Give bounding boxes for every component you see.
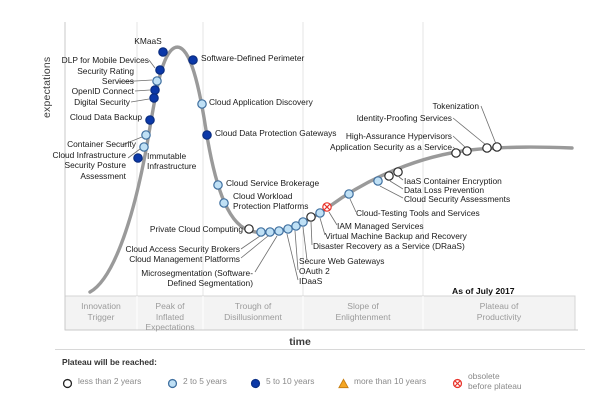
data-point-marker[interactable] bbox=[245, 225, 253, 233]
technology-label-line: Assessment bbox=[0, 171, 126, 181]
technology-label: Virtual Machine Backup and Recovery bbox=[325, 231, 467, 241]
data-point[interactable]: Microsegmentation (Software-Defined Segm… bbox=[275, 227, 283, 235]
technology-label: IAM Managed Services bbox=[337, 221, 424, 231]
data-point[interactable]: Identity-Proofing Services bbox=[483, 144, 491, 152]
data-point-marker[interactable] bbox=[159, 48, 167, 56]
data-point[interactable]: KMaaS bbox=[159, 48, 167, 56]
data-point-marker[interactable] bbox=[156, 66, 164, 74]
technology-label-line: Security Rating bbox=[0, 66, 134, 76]
technology-label-line: Cloud Workload bbox=[233, 191, 308, 201]
data-point-marker[interactable] bbox=[299, 218, 307, 226]
open-circle-icon bbox=[62, 378, 73, 389]
filled-circle-icon bbox=[167, 378, 178, 389]
data-point-marker[interactable] bbox=[385, 172, 393, 180]
legend-divider bbox=[55, 349, 585, 350]
data-point-marker[interactable] bbox=[189, 56, 197, 64]
label-leader-line bbox=[241, 236, 260, 249]
legend-item-label-line: before plateau bbox=[468, 382, 522, 392]
label-leader-line bbox=[380, 186, 403, 198]
phase-label-line: Disillusionment bbox=[203, 312, 303, 323]
data-point[interactable]: Security Rating Services bbox=[153, 77, 161, 85]
triangle-icon bbox=[338, 378, 349, 389]
data-point-marker[interactable] bbox=[151, 86, 159, 94]
technology-label-line: Infrastructure bbox=[147, 161, 196, 171]
data-point[interactable]: Cloud-Testing Tools and Services bbox=[345, 190, 353, 198]
technology-label: Cloud Service Brokerage bbox=[226, 178, 319, 188]
phase-label-line: Trough of bbox=[203, 301, 303, 312]
data-point[interactable]: Cloud Workload Protection Platforms bbox=[220, 199, 228, 207]
label-leader-line bbox=[453, 136, 466, 148]
technology-label: Tokenization bbox=[0, 101, 479, 111]
data-point[interactable]: Secure Web Gateways bbox=[299, 218, 307, 226]
label-leader-line bbox=[287, 234, 298, 280]
data-point-marker[interactable] bbox=[266, 228, 274, 236]
phase-label-line: Innovation bbox=[65, 301, 137, 312]
data-point[interactable]: Cloud Management Platforms bbox=[266, 228, 274, 236]
technology-label: Disaster Recovery as a Service (DRaaS) bbox=[313, 241, 465, 251]
technology-label: OpenID Connect bbox=[0, 86, 134, 96]
technology-label: Cloud Security Assessments bbox=[404, 194, 510, 204]
technology-label: Software-Defined Perimeter bbox=[201, 53, 304, 63]
data-point[interactable]: High-Assurance Hypervisors bbox=[463, 147, 471, 155]
phase-label-line: Plateau of bbox=[423, 301, 575, 312]
label-leader-line bbox=[149, 60, 155, 68]
data-point[interactable]: Cloud Access Security Brokers bbox=[257, 228, 265, 236]
phase-label-3: Slope ofEnlightenment bbox=[303, 301, 423, 322]
technology-label: KMaaS bbox=[118, 36, 178, 46]
data-point[interactable]: Cloud Security Assessments bbox=[374, 177, 382, 185]
data-point-marker[interactable] bbox=[153, 77, 161, 85]
data-point[interactable]: Cloud Service Brokerage bbox=[214, 181, 222, 189]
phase-label-line: Expectations bbox=[137, 322, 203, 333]
technology-label: Identity-Proofing Services bbox=[0, 113, 452, 123]
technology-label: IaaS Container Encryption bbox=[404, 176, 502, 186]
phase-label-4: Plateau ofProductivity bbox=[423, 301, 575, 322]
data-point-marker[interactable] bbox=[493, 143, 501, 151]
technology-label: Security RatingServices bbox=[0, 66, 134, 87]
phase-label-2: Trough ofDisillusionment bbox=[203, 301, 303, 322]
data-point-marker[interactable] bbox=[214, 181, 222, 189]
legend-item-label: more than 10 years bbox=[354, 377, 426, 387]
data-point[interactable]: Disaster Recovery as a Service (DRaaS) bbox=[307, 213, 315, 221]
data-point-marker[interactable] bbox=[374, 177, 382, 185]
technology-label-line: Protection Platforms bbox=[233, 201, 308, 211]
crossed-circle-icon bbox=[452, 378, 463, 389]
technology-label-line: Microsegmentation (Software- bbox=[0, 268, 253, 278]
label-leader-line bbox=[295, 231, 298, 270]
label-leader-line bbox=[399, 177, 403, 180]
data-point[interactable]: IaaS Container Encryption bbox=[394, 168, 402, 176]
technology-label: IDaaS bbox=[299, 276, 322, 286]
technology-label: Cloud Access Security Brokers bbox=[0, 244, 240, 254]
data-point[interactable]: Virtual Machine Backup and Recovery bbox=[316, 209, 324, 217]
phase-label-1: Peak ofInflatedExpectations bbox=[137, 301, 203, 333]
technology-label: DLP for Mobile Devices bbox=[0, 55, 149, 65]
data-point-marker[interactable] bbox=[316, 209, 324, 217]
legend-item-label: less than 2 years bbox=[78, 377, 141, 387]
hype-cycle-chart: KMaaSDLP for Mobile DevicesSecurity Rati… bbox=[0, 0, 600, 400]
label-leader-line bbox=[481, 106, 496, 144]
legend-title: Plateau will be reached: bbox=[62, 357, 157, 367]
legend-item-label: obsoletebefore plateau bbox=[468, 372, 522, 391]
phase-label-line: Enlightenment bbox=[303, 312, 423, 323]
technology-label: Microsegmentation (Software-Defined Segm… bbox=[0, 268, 253, 289]
phase-label-line: Trigger bbox=[65, 312, 137, 323]
data-point-marker[interactable] bbox=[275, 227, 283, 235]
phase-label-0: InnovationTrigger bbox=[65, 301, 137, 322]
technology-label: Cloud Management Platforms bbox=[0, 254, 240, 264]
data-point-marker[interactable] bbox=[284, 225, 292, 233]
label-leader-line bbox=[311, 222, 312, 245]
technology-label: Private Cloud Computing bbox=[0, 224, 243, 234]
data-point-marker[interactable] bbox=[463, 147, 471, 155]
legend-item-label: 2 to 5 years bbox=[183, 377, 227, 387]
x-axis-label: time bbox=[0, 336, 600, 348]
technology-label: Secure Web Gateways bbox=[299, 256, 385, 266]
label-leader-line bbox=[390, 181, 403, 189]
technology-label: ImmutableInfrastructure bbox=[147, 151, 196, 172]
data-point-marker[interactable] bbox=[307, 213, 315, 221]
label-leader-line bbox=[255, 236, 277, 272]
technology-label: High-Assurance Hypervisors bbox=[0, 131, 452, 141]
data-point-marker[interactable] bbox=[483, 144, 491, 152]
data-point[interactable]: Private Cloud Computing bbox=[245, 225, 253, 233]
data-point[interactable]: Tokenization bbox=[493, 143, 501, 151]
data-point[interactable]: Application Security as a Service bbox=[452, 149, 460, 157]
data-point[interactable]: Data Loss Prevention bbox=[385, 172, 393, 180]
data-point-marker[interactable] bbox=[134, 154, 142, 162]
technology-label: Cloud InfrastructureSecurity PostureAsse… bbox=[0, 150, 126, 181]
as-of-date: As of July 2017 bbox=[452, 286, 515, 296]
data-point[interactable]: IAM Managed Services bbox=[323, 203, 331, 211]
data-point[interactable]: IDaaS bbox=[284, 225, 292, 233]
data-point-marker[interactable] bbox=[257, 228, 265, 236]
technology-label-line: Defined Segmentation) bbox=[0, 278, 253, 288]
data-point-marker[interactable] bbox=[345, 190, 353, 198]
technology-label: Cloud-Testing Tools and Services bbox=[356, 208, 480, 218]
legend-item-label: 5 to 10 years bbox=[266, 377, 314, 387]
label-leader-line bbox=[329, 212, 337, 225]
data-point[interactable]: DLP for Mobile Devices bbox=[156, 66, 164, 74]
technology-label: Application Security as a Service bbox=[0, 142, 452, 152]
technology-label-line: Security Posture bbox=[0, 160, 126, 170]
technology-label: Cloud WorkloadProtection Platforms bbox=[233, 191, 308, 212]
technology-label: Data Loss Prevention bbox=[404, 185, 484, 195]
data-point-marker[interactable] bbox=[394, 168, 402, 176]
filled-circle-icon bbox=[250, 378, 261, 389]
data-point-marker[interactable] bbox=[452, 149, 460, 157]
data-point[interactable]: Software-Defined Perimeter bbox=[189, 56, 197, 64]
technology-label-line: Immutable bbox=[147, 151, 196, 161]
legend: less than 2 years2 to 5 years5 to 10 yea… bbox=[62, 374, 582, 396]
technology-label: OAuth 2 bbox=[299, 266, 330, 276]
data-point-marker[interactable] bbox=[220, 199, 228, 207]
data-point[interactable]: Immutable Infrastructure bbox=[134, 154, 142, 162]
phase-label-line: Inflated bbox=[137, 312, 203, 323]
phase-label-line: Peak of bbox=[137, 301, 203, 312]
phase-label-line: Productivity bbox=[423, 312, 575, 323]
phase-label-line: Slope of bbox=[303, 301, 423, 312]
data-point[interactable]: OpenID Connect bbox=[151, 86, 159, 94]
